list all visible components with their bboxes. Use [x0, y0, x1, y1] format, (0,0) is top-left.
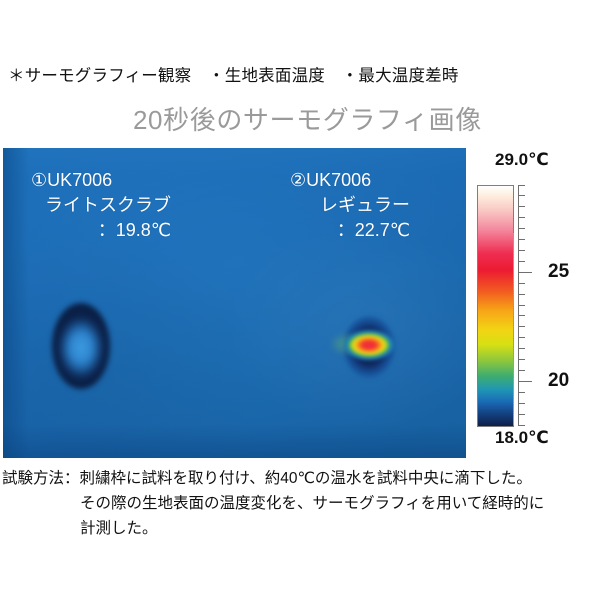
scale-tick-minor	[518, 392, 525, 393]
header-note: ＊サーモグラフィー観察 ・生地表面温度 ・最大温度差時	[8, 62, 459, 86]
scale-tick-minor	[518, 305, 525, 306]
sample-1-marker: ①UK7006	[31, 168, 171, 193]
thermal-blob-sample-2-core	[344, 330, 394, 360]
scale-tick-minor	[518, 315, 525, 316]
sample-1-temperature: ：19.8℃	[31, 218, 171, 243]
scale-tick-minor	[518, 403, 525, 404]
scale-axis-line-secondary	[513, 233, 514, 425]
scale-tick-minor	[518, 294, 525, 295]
caption-line-3: 計測した。	[2, 516, 598, 541]
thermography-figure: ＊サーモグラフィー観察 ・生地表面温度 ・最大温度差時 20秒後のサーモグラフィ…	[0, 0, 600, 600]
sample-2-marker: ②UK7006	[290, 168, 410, 193]
scale-tick-major	[518, 381, 532, 382]
scale-max-label: 29.0℃	[495, 150, 549, 170]
scale-tick-minor	[518, 228, 525, 229]
scale-tick-minor	[518, 370, 525, 371]
scale-tick-minor	[518, 414, 525, 415]
thermal-edge-bottom	[3, 424, 466, 458]
scale-tick-minor	[518, 337, 525, 338]
page-title: 20秒後のサーモグラフィ画像	[133, 100, 482, 137]
scale-min-label: 18.0℃	[495, 428, 549, 448]
scale-tick-minor	[518, 239, 525, 240]
scale-tick-minor	[518, 185, 525, 186]
scale-tick-label: 25	[548, 261, 569, 283]
sample-2-name: レギュラー	[290, 193, 410, 218]
scale-tick-minor	[518, 326, 525, 327]
scale-tick-major	[518, 272, 532, 273]
scale-tick-minor	[518, 261, 525, 262]
sample-2-label: ②UK7006 レギュラー ：22.7℃	[290, 168, 410, 243]
scale-tick-minor	[518, 250, 525, 251]
thermal-edge-left	[3, 148, 29, 458]
scale-tick-minor	[518, 425, 525, 426]
scale-tick-minor	[518, 359, 525, 360]
scale-tick-minor	[518, 217, 525, 218]
caption-line-2: その際の生地表面の温度変化を、サーモグラフィを用いて経時的に	[2, 491, 598, 516]
sample-2-temperature: ：22.7℃	[290, 218, 410, 243]
thermal-blob-sample-1	[52, 303, 110, 389]
scale-tick-minor	[518, 206, 525, 207]
sample-1-name: ライトスクラブ	[31, 193, 171, 218]
scale-tick-label: 20	[548, 370, 569, 392]
scale-tick-minor	[518, 195, 525, 196]
scale-tick-minor	[518, 283, 525, 284]
caption-line-1: 試験方法：刺繍枠に試料を取り付け、約40℃の温水を試料中央に滴下した。	[2, 466, 598, 491]
sample-1-label: ①UK7006 ライトスクラブ ：19.8℃	[31, 168, 171, 243]
method-caption: 試験方法：刺繍枠に試料を取り付け、約40℃の温水を試料中央に滴下した。 その際の…	[2, 466, 598, 541]
color-scale-bar	[477, 185, 514, 427]
scale-tick-minor	[518, 348, 525, 349]
